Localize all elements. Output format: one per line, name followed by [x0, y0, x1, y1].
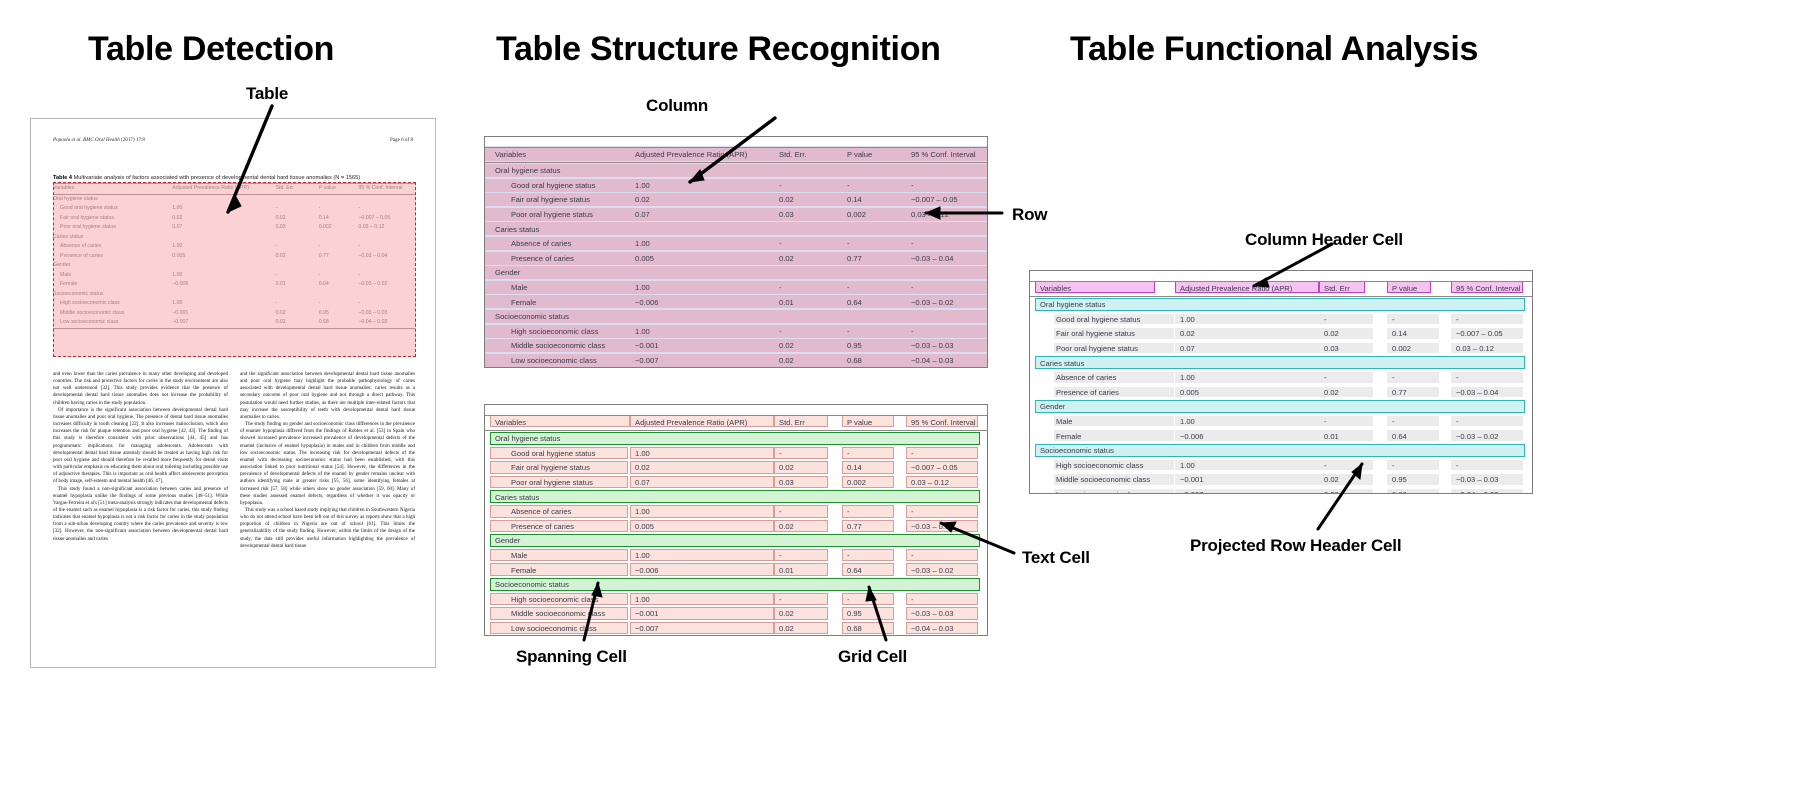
data-cell: 0.002	[845, 209, 915, 221]
document-table-header-row: VariablesAdjusted Prevalence Ratio (APR)…	[53, 184, 415, 195]
document-table-row-label: Presence of caries	[53, 252, 172, 262]
data-cell: 0.03 – 0.12	[909, 209, 987, 221]
document-table-cell: −0.03 – 0.04	[358, 252, 415, 262]
data-cell: -	[1322, 460, 1396, 472]
data-cell: -	[909, 180, 987, 192]
data-cell: −0.04 – 0.03	[909, 355, 987, 367]
document-table-cell: -	[358, 299, 415, 309]
data-cell: 0.03	[777, 477, 851, 489]
data-cell: 0.02	[777, 253, 851, 265]
data-cell: -	[777, 282, 851, 294]
paper-paragraph: and even lower than the caries prevalenc…	[53, 371, 228, 407]
structure-recognition-rows-columns-table: VariablesAdjusted Prevalence Ratio (APR)…	[484, 136, 988, 368]
document-table-section-row: Caries status	[53, 233, 415, 243]
document-table-cell	[319, 194, 359, 204]
data-cell: -	[1322, 416, 1396, 428]
section-row-label: Gender	[493, 535, 643, 547]
data-cell: 0.03	[777, 209, 851, 221]
data-cell: −0.03 – 0.02	[909, 564, 987, 576]
data-cell: 1.00	[633, 326, 783, 338]
annotation-label-column: Column	[646, 96, 708, 116]
section-row-label: Oral hygiene status	[493, 165, 643, 177]
section-row-label: Socioeconomic status	[493, 311, 643, 323]
annotation-label-table: Table	[246, 84, 288, 104]
document-table-cell	[276, 290, 319, 300]
data-cell: 0.01	[777, 296, 851, 308]
section-row-label: Gender	[1038, 401, 1188, 413]
data-cell: -	[909, 448, 987, 460]
document-table-cell: 0.005	[172, 252, 275, 262]
data-cell: −0.03 – 0.04	[909, 521, 987, 533]
data-cell: 0.02	[1322, 328, 1396, 340]
table-header-rule	[1030, 296, 1532, 297]
data-cell: 0.64	[845, 564, 915, 576]
column-header-label: P value	[1390, 283, 1464, 295]
document-table-section-row: Gender	[53, 261, 415, 271]
data-cell: -	[1454, 416, 1532, 428]
document-table-cell	[319, 233, 359, 243]
document-table-cell: 0.64	[319, 280, 359, 290]
document-table-cell: 0.03	[276, 223, 319, 233]
data-cell: 0.77	[1390, 387, 1460, 399]
document-table-row-label: Fair oral hygiene status	[53, 214, 172, 224]
document-table-row-label: Middle socioeconomic class	[53, 309, 172, 319]
data-cell: 0.02	[633, 462, 783, 474]
data-cell: 0.03 – 0.12	[1454, 343, 1532, 355]
data-cell: 1.00	[1178, 372, 1328, 384]
panel-title-table-functional-analysis: Table Functional Analysis	[1070, 30, 1478, 69]
data-cell: -	[845, 238, 915, 250]
data-cell: -	[845, 506, 915, 518]
document-table-cell: -	[319, 299, 359, 309]
data-cell: -	[777, 238, 851, 250]
data-cell: 1.00	[633, 180, 783, 192]
data-cell: -	[1390, 416, 1460, 428]
data-cell: 1.00	[1178, 416, 1328, 428]
document-table-cell: −0.03 – 0.02	[358, 280, 415, 290]
section-row-label: Oral hygiene status	[493, 433, 643, 445]
data-cell: 0.95	[845, 340, 915, 352]
running-head-left: Popoola et al. BMC Oral Health	[53, 137, 120, 143]
document-table-cell: 1.00	[172, 204, 275, 214]
data-cell: -	[909, 594, 987, 606]
document-table-cell: 0.02	[276, 252, 319, 262]
data-cell: −0.001	[1178, 474, 1328, 486]
panel-title-table-structure-recognition: Table Structure Recognition	[496, 30, 941, 69]
data-cell: -	[1390, 372, 1460, 384]
data-cell: 0.005	[633, 253, 783, 265]
column-header-label: Std. Err	[777, 417, 855, 429]
document-table-cell	[358, 194, 415, 204]
document-table-cell: −0.04 – 0.03	[358, 318, 415, 328]
data-cell: -	[909, 326, 987, 338]
data-cell: −0.03 – 0.02	[909, 296, 987, 308]
document-table-cell	[172, 233, 275, 243]
table-top-rule	[485, 147, 987, 148]
data-cell: 1.00	[633, 448, 783, 460]
data-cell: 0.01	[1322, 430, 1396, 442]
data-cell: 0.02	[1322, 387, 1396, 399]
document-table-row: Fair oral hygiene status0.020.020.14−0.0…	[53, 214, 415, 224]
table-caption-text: Multivariate analysis of factors associa…	[74, 175, 361, 181]
data-cell: 0.77	[845, 521, 915, 533]
data-cell: 0.02	[633, 194, 783, 206]
data-cell: 0.02	[777, 355, 851, 367]
data-cell: -	[909, 238, 987, 250]
data-cell: -	[845, 326, 915, 338]
data-cell: 0.14	[1390, 328, 1460, 340]
document-table-cell: 0.02	[172, 214, 275, 224]
document-table-cell: 0.02	[276, 309, 319, 319]
data-cell: -	[777, 594, 851, 606]
data-cell: −0.03 – 0.03	[1454, 474, 1532, 486]
paper-paragraph: and the significant association between …	[240, 371, 415, 421]
data-cell: -	[777, 506, 851, 518]
data-cell: -	[1454, 314, 1532, 326]
data-cell: 0.01	[777, 564, 851, 576]
document-table-cell	[172, 290, 275, 300]
table-caption-label: Table 4	[53, 175, 72, 181]
document-table-cell: −0.006	[172, 280, 275, 290]
data-cell: −0.006	[1178, 430, 1328, 442]
document-table-row: Poor oral hygiene status0.070.030.0020.0…	[53, 223, 415, 233]
data-cell: −0.001	[633, 340, 783, 352]
data-cell: 0.14	[845, 462, 915, 474]
table-caption: Table 4 Multivariate analysis of factors…	[53, 175, 413, 181]
data-cell: −0.007 – 0.05	[909, 462, 987, 474]
section-row-label: Oral hygiene status	[1038, 299, 1188, 311]
data-cell: −0.04 – 0.03	[909, 623, 987, 635]
document-table-row-label: Poor oral hygiene status	[53, 223, 172, 233]
document-table-cell: 1.00	[172, 299, 275, 309]
table-header-rule	[485, 162, 987, 163]
table-top-rule	[1030, 281, 1532, 282]
document-table-cell: −0.007	[172, 318, 275, 328]
data-cell: 0.02	[777, 194, 851, 206]
table-header-rule	[485, 430, 987, 431]
document-table-cell: 0.68	[319, 318, 359, 328]
document-table-cell: -	[276, 204, 319, 214]
data-cell: 0.07	[633, 477, 783, 489]
document-table-cell	[319, 290, 359, 300]
document-table-cell: 0.14	[319, 214, 359, 224]
document-table-cell: -	[358, 204, 415, 214]
column-header-label: 95 % Conf. Interval	[909, 417, 988, 429]
section-row-label: Socioeconomic status	[493, 579, 643, 591]
data-cell: -	[909, 506, 987, 518]
data-cell: −0.03 – 0.03	[909, 340, 987, 352]
column-header-label: P value	[845, 417, 919, 429]
document-table-row: Middle socioeconomic class−0.0010.020.95…	[53, 309, 415, 319]
document-table-row-label: Oral hygiene status	[53, 194, 172, 204]
data-cell: -	[1390, 460, 1460, 472]
running-head: Popoola et al. BMC Oral Health (2017) 17…	[53, 137, 413, 143]
paper-paragraph: Of importance is the significant associa…	[53, 407, 228, 486]
document-table-row-label: Absence of caries	[53, 242, 172, 252]
annotation-label-row: Row	[1012, 205, 1047, 225]
document-table-cell: 0.95	[319, 309, 359, 319]
running-head-left-meta: (2017) 17:8	[121, 137, 145, 143]
section-row-label: Gender	[493, 267, 643, 279]
document-table-cell	[172, 194, 275, 204]
document-table-cell: -	[358, 242, 415, 252]
data-cell: 1.00	[633, 506, 783, 518]
column-header-label: 95 % Conf. Interval	[909, 149, 988, 161]
data-cell: 0.68	[845, 623, 915, 635]
document-table-row-label: High socioeconomic class	[53, 299, 172, 309]
data-cell: −0.03 – 0.04	[1454, 387, 1532, 399]
document-table-row-label: Female	[53, 280, 172, 290]
document-table-header-cell: Adjusted Prevalence Ratio (APR)	[172, 184, 275, 195]
document-table-cell	[319, 261, 359, 271]
document-table-row: High socioeconomic class1.00---	[53, 299, 415, 309]
document-table-row: Low socioeconomic class−0.0070.020.68−0.…	[53, 318, 415, 328]
document-table-header-cell: Std. Err.	[276, 184, 319, 195]
column-header-label: Std. Err.	[777, 149, 855, 161]
document-table-section-row: Socioeconomic status	[53, 290, 415, 300]
section-row-label: Caries status	[1038, 357, 1188, 369]
data-cell: 1.00	[633, 550, 783, 562]
data-cell: −0.03 – 0.03	[909, 608, 987, 620]
document-table-cell: 1.00	[172, 242, 275, 252]
data-cell: −0.04 – 0.03	[1454, 489, 1532, 494]
data-cell: 0.68	[845, 355, 915, 367]
column-header-label: Std. Err	[1322, 283, 1400, 295]
document-table-row-label: Caries status	[53, 233, 172, 243]
data-cell: −0.03 – 0.02	[1454, 430, 1532, 442]
document-table-cell: -	[319, 271, 359, 281]
paper-paragraph: This study was a school based study impl…	[240, 507, 415, 550]
document-table-cell	[358, 290, 415, 300]
data-cell: −0.007	[1178, 489, 1328, 494]
data-cell: −0.006	[633, 296, 783, 308]
section-row-label: Caries status	[493, 491, 643, 503]
data-cell: -	[909, 282, 987, 294]
column-header-label: Variables	[1038, 283, 1188, 295]
document-table-row: Absence of caries1.00---	[53, 242, 415, 252]
data-cell: -	[777, 448, 851, 460]
annotation-label-grid-cell: Grid Cell	[838, 647, 907, 667]
data-cell: 1.00	[633, 238, 783, 250]
column-header-label: Adjusted Prevalence Ratio (APR)	[1178, 283, 1332, 295]
structure-recognition-cells-table: VariablesAdjusted Prevalence Ratio (APR)…	[484, 404, 988, 636]
data-cell: 1.00	[633, 594, 783, 606]
data-cell: 0.64	[1390, 430, 1460, 442]
document-table-cell: 1.00	[172, 271, 275, 281]
document-table-cell: -	[276, 299, 319, 309]
data-cell: -	[845, 550, 915, 562]
document-table-row-label: Socioeconomic status	[53, 290, 172, 300]
data-cell: -	[845, 594, 915, 606]
document-table-cell: 0.02	[276, 318, 319, 328]
document-table-cell: 0.03 – 0.12	[358, 223, 415, 233]
data-cell: 0.64	[845, 296, 915, 308]
data-cell: 0.07	[1178, 343, 1328, 355]
data-cell: -	[1322, 372, 1396, 384]
running-head-right: Page 6 of 8	[390, 137, 413, 143]
table-top-rule	[485, 415, 987, 416]
column-header-label: Variables	[493, 149, 643, 161]
column-header-label: Variables	[493, 417, 643, 429]
data-cell: 0.005	[633, 521, 783, 533]
column-header-label: Adjusted Prevalence Ratio (APR)	[633, 149, 787, 161]
document-table-cell: −0.03 – 0.03	[358, 309, 415, 319]
section-row-label: Caries status	[493, 223, 643, 235]
data-cell: 0.02	[1178, 328, 1328, 340]
document-table-header-cell: P value	[319, 184, 359, 195]
data-cell: 0.02	[1322, 474, 1396, 486]
document-table-row-label: Gender	[53, 261, 172, 271]
document-table-row: Male1.00---	[53, 271, 415, 281]
data-cell: 0.005	[1178, 387, 1328, 399]
data-cell: 0.02	[1322, 489, 1396, 494]
document-table-row-label: Male	[53, 271, 172, 281]
data-cell: 1.00	[633, 282, 783, 294]
document-table-cell	[276, 261, 319, 271]
document-table-cell: -	[358, 271, 415, 281]
column-header-label: 95 % Conf. Interval	[1454, 283, 1533, 295]
data-cell: -	[909, 550, 987, 562]
document-table-cell: 0.002	[319, 223, 359, 233]
panel-title-table-detection: Table Detection	[88, 30, 334, 69]
data-cell: 0.95	[1390, 474, 1460, 486]
document-table-cell: 0.01	[276, 280, 319, 290]
document-table-cell: −0.001	[172, 309, 275, 319]
document-page: Popoola et al. BMC Oral Health (2017) 17…	[30, 118, 436, 668]
data-cell: 0.02	[777, 340, 851, 352]
data-cell: 0.14	[845, 194, 915, 206]
annotation-label-text-cell: Text Cell	[1022, 548, 1090, 568]
data-cell: 0.02	[777, 623, 851, 635]
document-table-row: Presence of caries0.0050.020.77−0.03 – 0…	[53, 252, 415, 262]
data-cell: 0.002	[1390, 343, 1460, 355]
column-header-label: P value	[845, 149, 919, 161]
data-cell: -	[1454, 460, 1532, 472]
data-cell: 0.07	[633, 209, 783, 221]
document-table-cell: 0.07	[172, 223, 275, 233]
data-cell: 0.68	[1390, 489, 1460, 494]
document-table-cell: -	[276, 271, 319, 281]
column-header-label: Adjusted Prevalence Ratio (APR)	[633, 417, 787, 429]
data-cell: 0.03	[1322, 343, 1396, 355]
data-cell: 0.02	[777, 608, 851, 620]
data-cell: -	[845, 282, 915, 294]
data-cell: 0.77	[845, 253, 915, 265]
data-cell: 0.002	[845, 477, 915, 489]
data-cell: −0.03 – 0.04	[909, 253, 987, 265]
data-cell: -	[777, 550, 851, 562]
data-cell: 1.00	[1178, 314, 1328, 326]
document-table-cell	[358, 261, 415, 271]
data-cell: -	[1454, 372, 1532, 384]
data-cell: −0.007 – 0.05	[1454, 328, 1532, 340]
document-table-cell: 0.77	[319, 252, 359, 262]
document-table-header-cell: Variables	[53, 184, 172, 195]
document-table-row-label: Good oral hygiene status	[53, 204, 172, 214]
document-table: VariablesAdjusted Prevalence Ratio (APR)…	[53, 183, 415, 329]
data-cell: 0.02	[777, 521, 851, 533]
data-cell: −0.006	[633, 564, 783, 576]
data-cell: −0.007 – 0.05	[909, 194, 987, 206]
data-cell: 0.02	[777, 462, 851, 474]
document-table-cell	[358, 233, 415, 243]
data-cell: −0.007	[633, 355, 783, 367]
paper-paragraph: This study found a non-significant assoc…	[53, 486, 228, 543]
annotation-label-spanning-cell: Spanning Cell	[516, 647, 627, 667]
document-table-row: Female−0.0060.010.64−0.03 – 0.02	[53, 280, 415, 290]
data-cell: 1.00	[1178, 460, 1328, 472]
data-cell: -	[1322, 314, 1396, 326]
document-table-section-row: Oral hygiene status	[53, 194, 415, 204]
functional-analysis-table: VariablesAdjusted Prevalence Ratio (APR)…	[1029, 270, 1533, 494]
data-cell: -	[845, 180, 915, 192]
data-cell: -	[777, 180, 851, 192]
section-row-label: Socioeconomic status	[1038, 445, 1188, 457]
document-table-cell: -	[276, 242, 319, 252]
annotation-label-projected-row-header-cell: Projected Row Header Cell	[1190, 536, 1401, 556]
document-table-header-cell: 95 % Conf. Interval	[358, 184, 415, 195]
document-table-cell	[276, 194, 319, 204]
document-table-cell: -	[319, 242, 359, 252]
document-table-row-label: Low socioeconomic class	[53, 318, 172, 328]
document-table-cell	[172, 261, 275, 271]
data-cell: 0.03 – 0.12	[909, 477, 987, 489]
data-cell: -	[845, 448, 915, 460]
data-cell: -	[777, 326, 851, 338]
document-table-cell: -	[319, 204, 359, 214]
paper-body-text: and even lower than the caries prevalenc…	[53, 371, 415, 550]
data-cell: −0.001	[633, 608, 783, 620]
document-table-row: Good oral hygiene status1.00---	[53, 204, 415, 214]
data-cell: −0.007	[633, 623, 783, 635]
document-table-cell: −0.007 – 0.05	[358, 214, 415, 224]
data-cell: -	[1390, 314, 1460, 326]
paper-paragraph: The study finding on gender and socioeco…	[240, 421, 415, 507]
document-table-cell	[276, 233, 319, 243]
annotation-label-column-header-cell: Column Header Cell	[1245, 230, 1403, 250]
document-table-cell: 0.02	[276, 214, 319, 224]
data-cell: 0.95	[845, 608, 915, 620]
